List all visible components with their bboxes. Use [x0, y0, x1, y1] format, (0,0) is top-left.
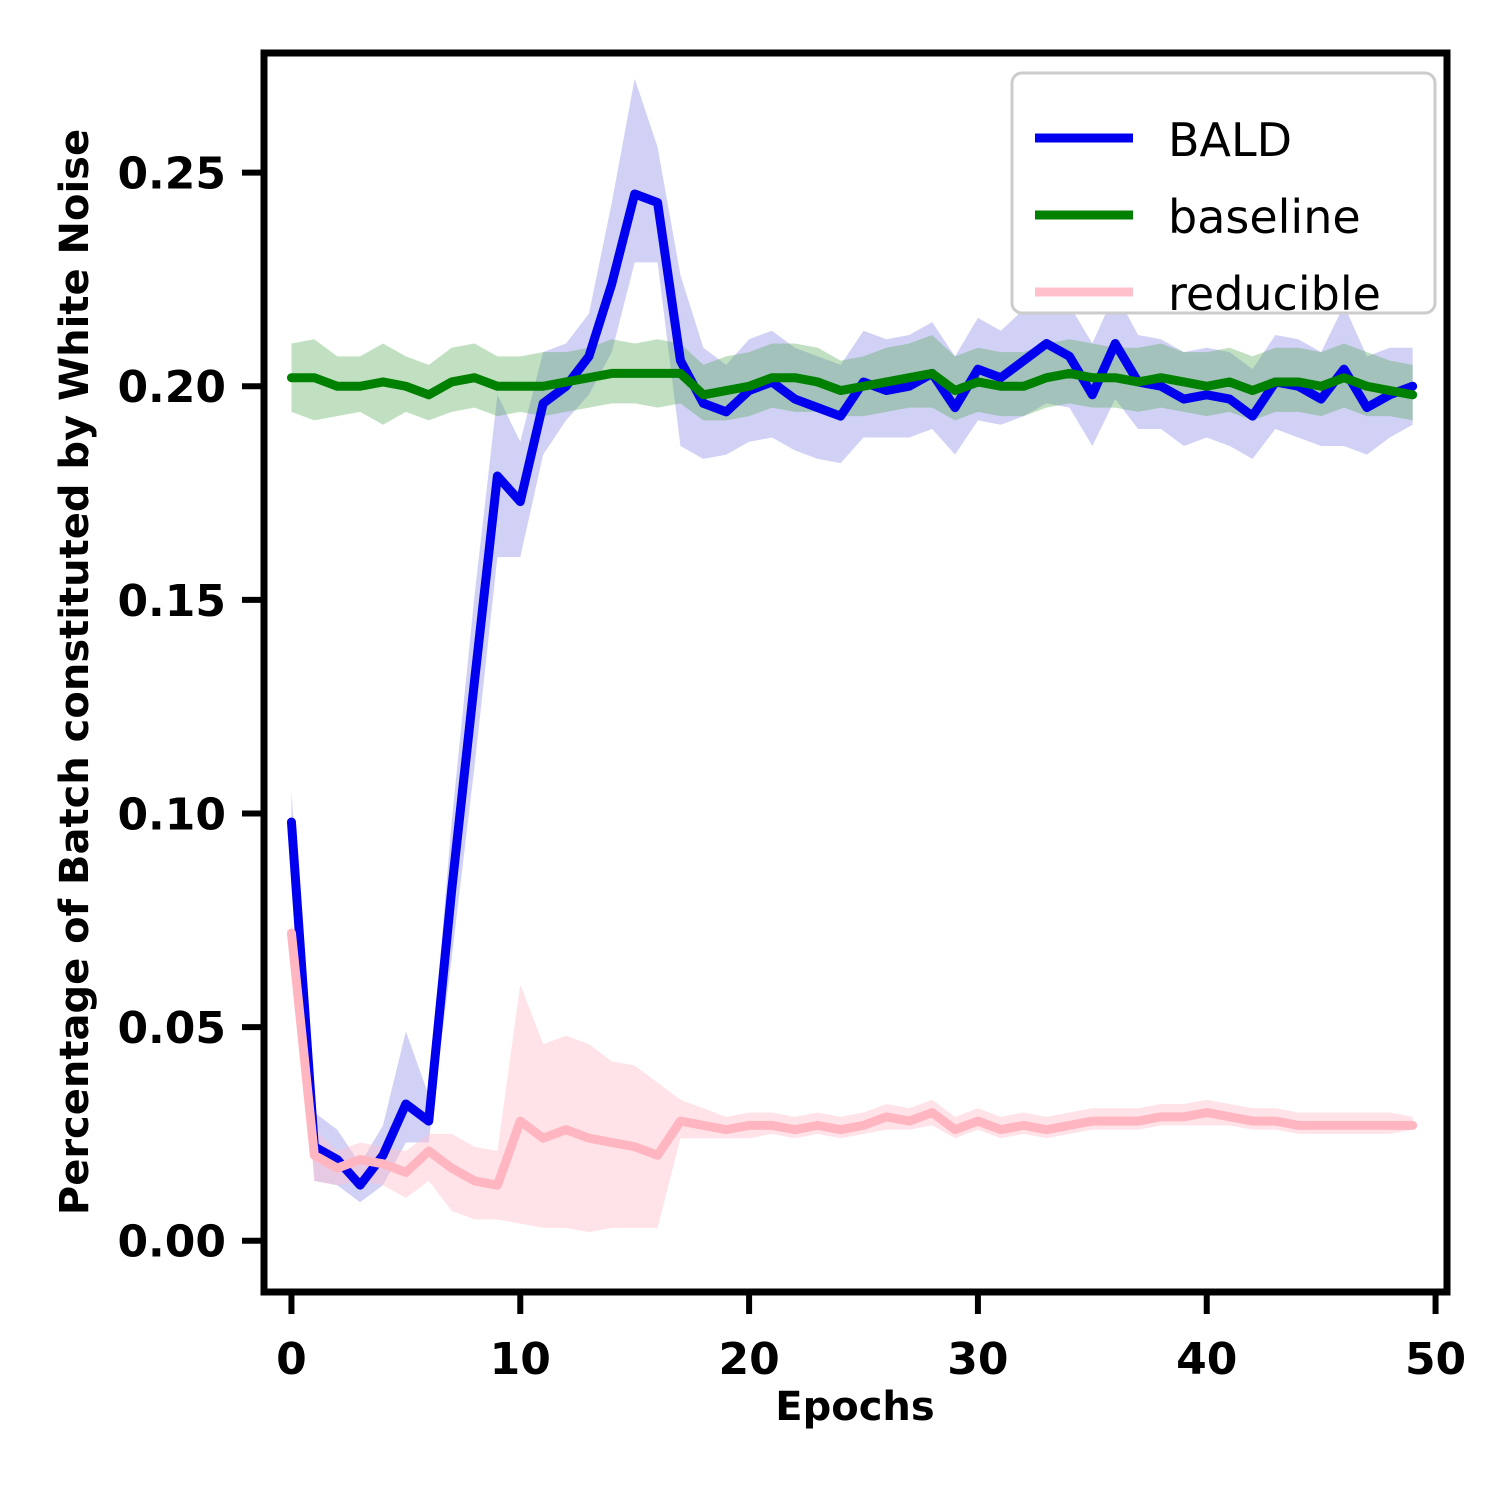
x-tick-label: 50 [1405, 1334, 1466, 1385]
y-tick-label: 0.20 [117, 362, 226, 413]
chart-legend[interactable]: BALDbaselinereducible [1012, 73, 1435, 321]
y-tick-label: 0.00 [117, 1217, 226, 1268]
x-tick-label: 30 [947, 1334, 1008, 1385]
legend-label-BALD[interactable]: BALD [1168, 113, 1292, 167]
x-tick-label: 40 [1176, 1334, 1237, 1385]
y-tick-label: 0.25 [117, 149, 226, 200]
x-tick-label: 0 [276, 1334, 307, 1385]
chart-figure: 01020304050 0.000.050.100.150.200.25 Epo… [0, 0, 1500, 1500]
y-axis-label: Percentage of Batch constituted by White… [52, 129, 98, 1215]
y-tick-label: 0.15 [117, 576, 226, 627]
legend-label-baseline[interactable]: baseline [1168, 190, 1361, 244]
legend-label-reducible[interactable]: reducible [1168, 267, 1381, 321]
x-axis-label: Epochs [775, 1384, 934, 1430]
x-tick-label: 10 [490, 1334, 551, 1385]
x-tick-label: 20 [718, 1334, 779, 1385]
y-tick-label: 0.05 [117, 1003, 226, 1054]
y-tick-label: 0.10 [117, 789, 226, 840]
line-chart: 01020304050 0.000.050.100.150.200.25 Epo… [0, 0, 1500, 1500]
